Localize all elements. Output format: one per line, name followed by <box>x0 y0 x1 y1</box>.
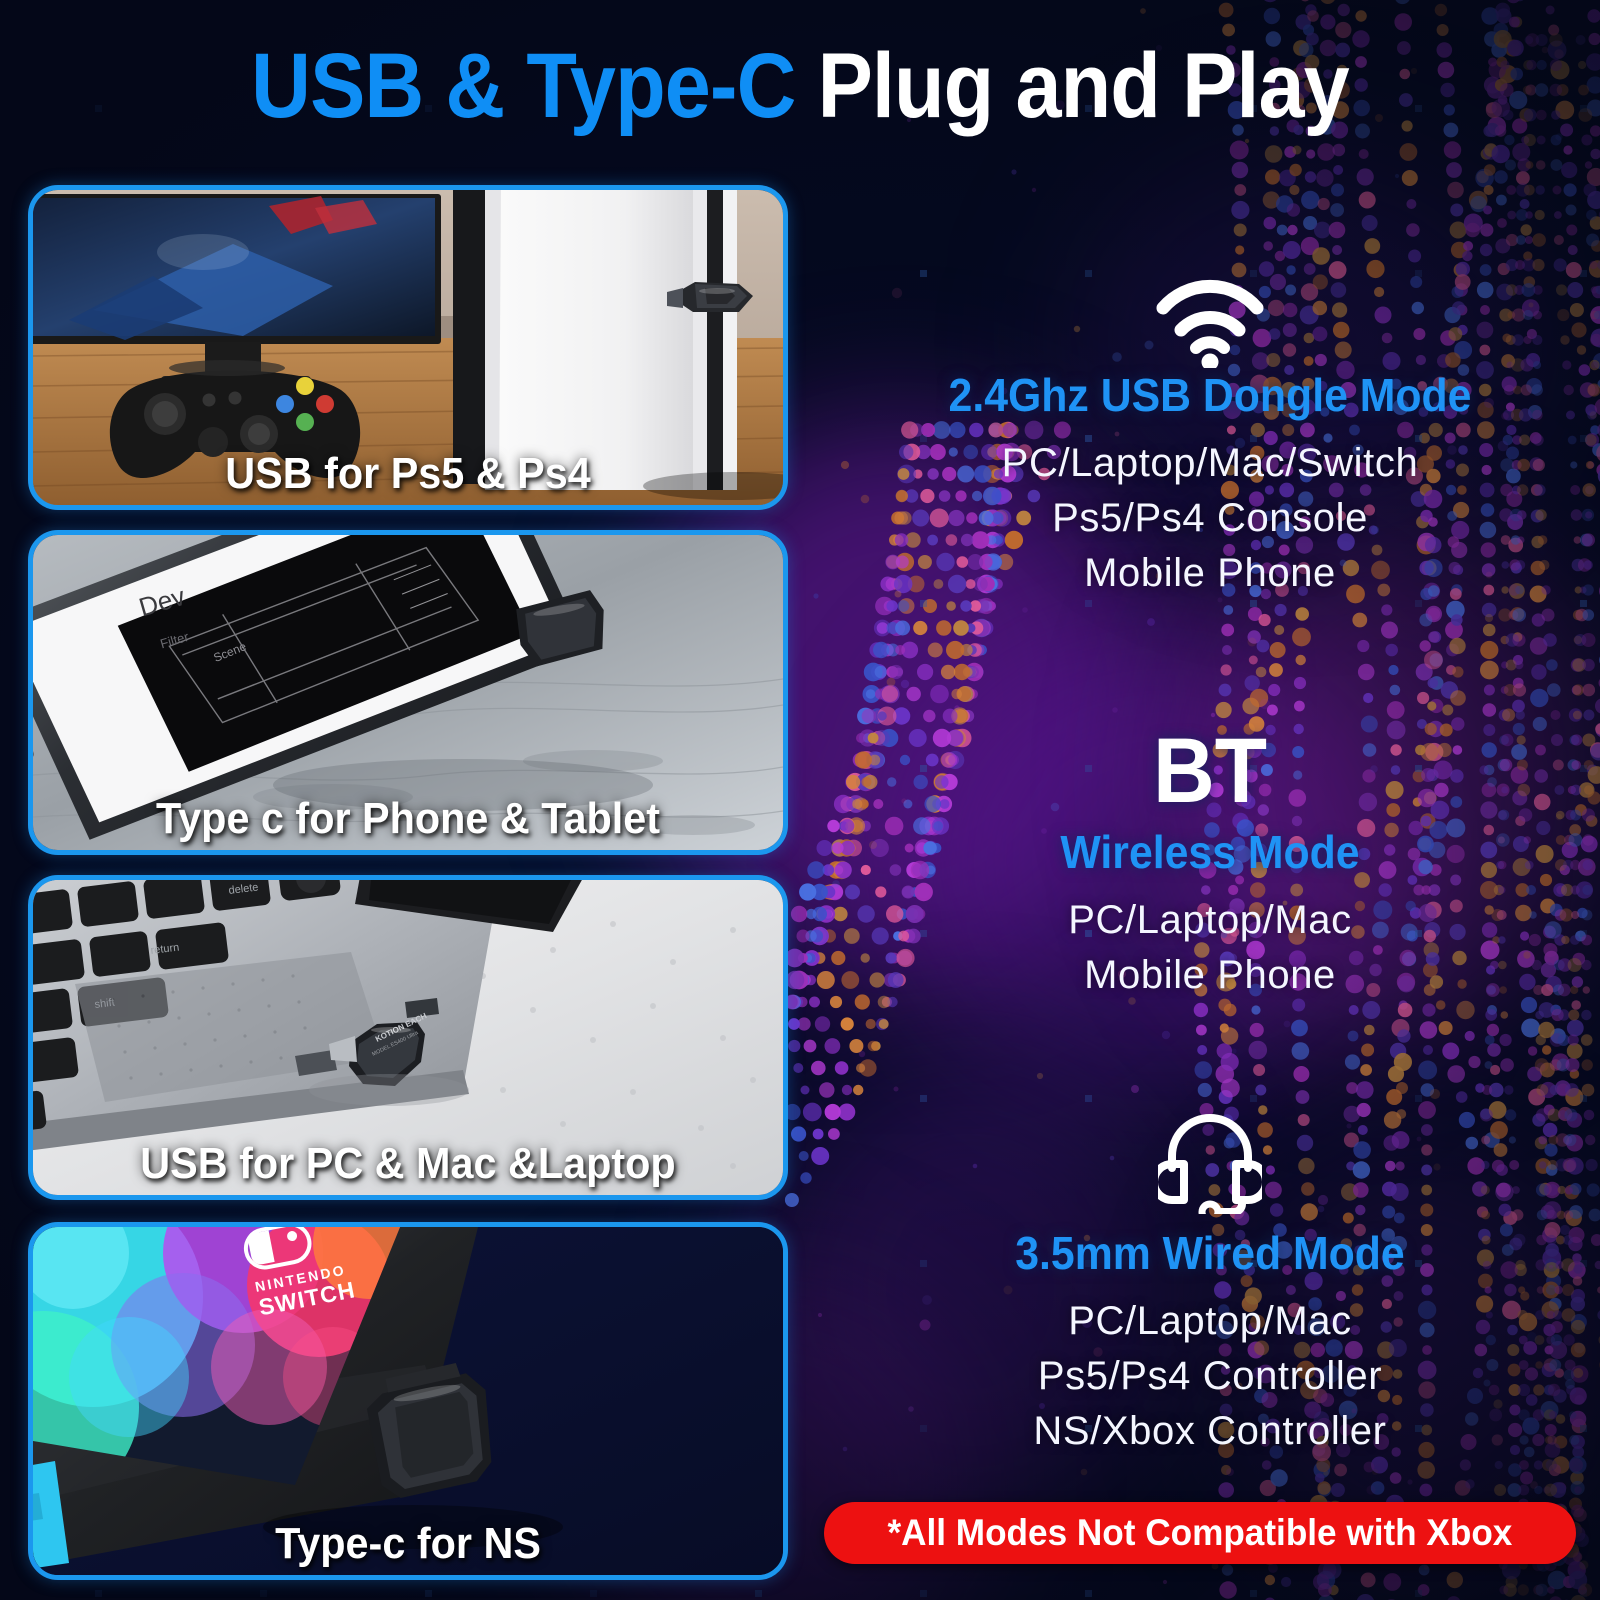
wifi-icon <box>1151 272 1269 368</box>
card-typec-ns[interactable]: NINTENDO SWITCH Type-c for NS <box>28 1222 788 1580</box>
mode-bt-wireless: BT Wireless Mode PC/Laptop/Mac Mobile Ph… <box>820 725 1600 1003</box>
mode-usb-dongle: 2.4Ghz USB Dongle Mode PC/Laptop/Mac/Swi… <box>820 272 1600 602</box>
list-item: Mobile Phone <box>820 546 1600 601</box>
bt-label: BT <box>847 725 1572 817</box>
card-caption: Type c for Phone & Tablet <box>56 794 761 844</box>
list-item: PC/Laptop/Mac/Switch <box>820 436 1600 491</box>
card-typec-phone[interactable]: Dev Filter Scene Type c for Phone & Tabl… <box>28 530 788 855</box>
page-title: USB & Type-C Plug and Play <box>80 34 1520 139</box>
mode-compat-list: PC/Laptop/Mac Mobile Phone <box>820 893 1600 1003</box>
list-item: Ps5/Ps4 Controller <box>820 1349 1600 1404</box>
mode-compat-list: PC/Laptop/Mac Ps5/Ps4 Controller NS/Xbox… <box>820 1294 1600 1460</box>
mode-heading: 2.4Ghz USB Dongle Mode <box>847 368 1572 422</box>
warning-text: *All Modes Not Compatible with Xbox <box>888 1512 1513 1554</box>
mode-heading: 3.5mm Wired Mode <box>847 1226 1572 1280</box>
card-caption: Type-c for NS <box>56 1519 761 1569</box>
list-item: PC/Laptop/Mac <box>820 1294 1600 1349</box>
mode-compat-list: PC/Laptop/Mac/Switch Ps5/Ps4 Console Mob… <box>820 436 1600 602</box>
card-usb-pc-mac[interactable]: delete return shift f12 <box>28 875 788 1200</box>
card-caption: USB for Ps5 & Ps4 <box>56 449 761 499</box>
mode-heading: Wireless Mode <box>847 825 1572 879</box>
card-usb-ps5[interactable]: USB for Ps5 & Ps4 <box>28 185 788 510</box>
list-item: NS/Xbox Controller <box>820 1404 1600 1459</box>
mode-wired: 3.5mm Wired Mode PC/Laptop/Mac Ps5/Ps4 C… <box>820 1108 1600 1460</box>
list-item: PC/Laptop/Mac <box>820 893 1600 948</box>
list-item: Ps5/Ps4 Console <box>820 491 1600 546</box>
page-title-white: Plug and Play <box>818 35 1349 137</box>
xbox-compatibility-warning: *All Modes Not Compatible with Xbox <box>824 1502 1576 1564</box>
headset-icon <box>1158 1108 1262 1214</box>
card-caption: USB for PC & Mac &Laptop <box>56 1139 761 1189</box>
page-title-blue: USB & Type-C <box>251 35 795 137</box>
list-item: Mobile Phone <box>820 948 1600 1003</box>
